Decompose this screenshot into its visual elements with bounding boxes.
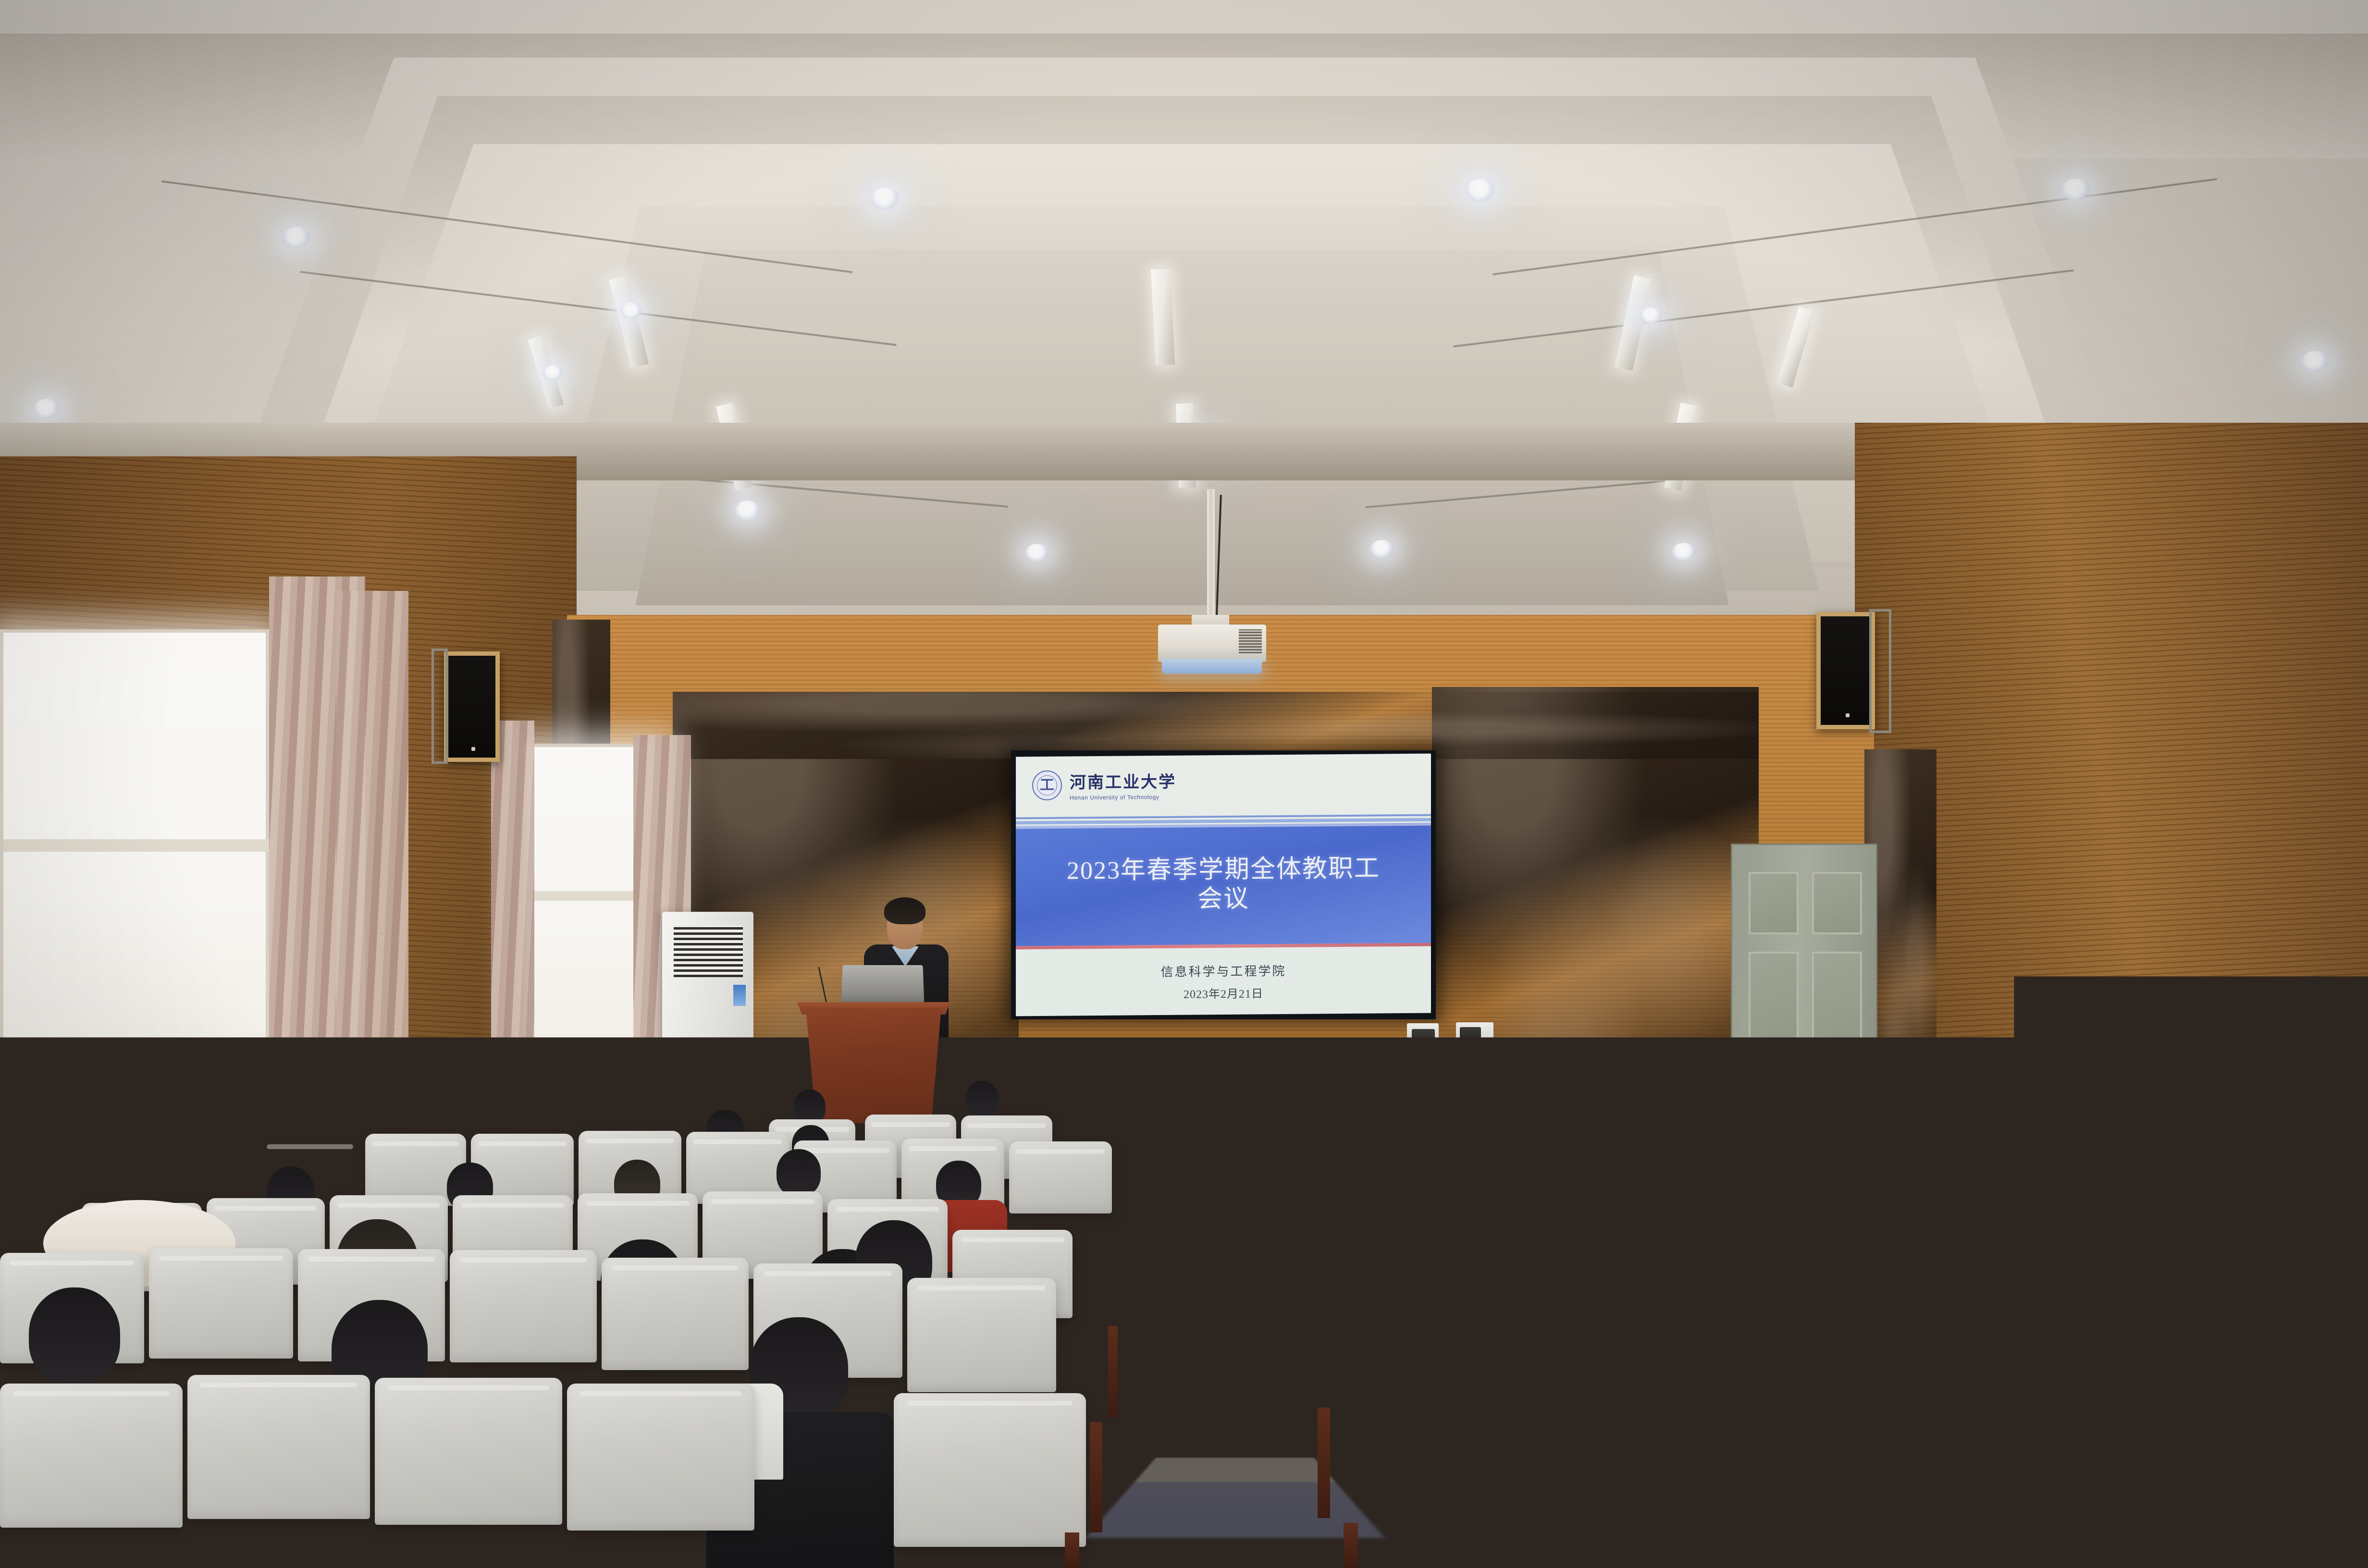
seat-leg — [1297, 1316, 1307, 1403]
seat — [0, 1384, 183, 1528]
door-panel-bottom-right — [1812, 952, 1862, 1062]
seat — [1418, 1393, 1610, 1568]
seat — [1795, 1260, 1944, 1373]
ceiling-downlight — [2061, 179, 2090, 201]
air-conditioner-vent-icon — [674, 925, 743, 977]
presenter-laptop — [841, 965, 924, 1006]
speaker-led-icon — [1846, 713, 1850, 717]
ceiling-downlight — [1466, 179, 1495, 202]
slide-footer-department: 信息科学与工程学院 — [1160, 961, 1286, 980]
projector-vent-grille-icon — [1239, 629, 1262, 653]
seat — [1739, 1080, 1837, 1148]
slide-header: 工 河南工业大学 Henan University of Technology — [1016, 754, 1431, 815]
presentation-slide: 工 河南工业大学 Henan University of Technology … — [1016, 754, 1431, 1017]
seat — [1494, 1265, 1639, 1376]
seat-leg — [1065, 1532, 1079, 1568]
seat — [1317, 1172, 1432, 1256]
slide-footer: 信息科学与工程学院 2023年2月21日 — [1016, 946, 1431, 1017]
seat — [187, 1375, 370, 1519]
ceiling-downlight — [1640, 307, 1662, 324]
projector-lens — [1162, 659, 1262, 674]
seat — [567, 1384, 754, 1531]
attendee-head — [29, 1287, 120, 1384]
seat — [2306, 1167, 2368, 1257]
seat — [1949, 1257, 2098, 1371]
university-name-en: Henan University of Technology — [1070, 794, 1176, 801]
seat — [1643, 1262, 1790, 1375]
university-seal-glyph: 工 — [1040, 778, 1054, 793]
speaker-bracket-right — [1869, 609, 1891, 733]
university-name-block: 河南工业大学 Henan University of Technology — [1070, 769, 1176, 801]
wall-speaker-left — [444, 651, 500, 762]
curtain-left-of-window — [491, 721, 534, 1115]
ceiling-downlight — [621, 303, 642, 319]
seat — [1432, 1087, 1528, 1154]
university-name-cn: 河南工业大学 — [1070, 769, 1176, 793]
lecture-hall-photo: 工 河南工业大学 Henan University of Technology … — [0, 0, 2368, 1568]
wall-speaker-right — [1816, 612, 1875, 729]
speaker-bracket-left — [432, 649, 448, 764]
ceiling-downlight — [1370, 540, 1394, 557]
projection-screen: 工 河南工业大学 Henan University of Technology … — [1011, 750, 1436, 1019]
projector-mount-pole — [1207, 489, 1215, 624]
seat — [2180, 1170, 2303, 1260]
curtain-left-2 — [336, 591, 408, 1119]
desk-av-device-2-screen — [1460, 1027, 1481, 1040]
presenter-hair — [884, 897, 925, 924]
seat — [2153, 1072, 2254, 1142]
ceiling-downlight — [2302, 351, 2329, 372]
waste-bin — [513, 1066, 555, 1112]
window-mullion — [3, 839, 272, 852]
plant-pot — [208, 1085, 258, 1126]
speaker-led-icon — [471, 747, 475, 751]
seat — [2258, 1252, 2368, 1367]
seat — [1812, 1384, 2009, 1568]
ceiling-downlight — [735, 501, 760, 520]
ceiling-downlight — [543, 365, 563, 380]
ceiling-downlight — [1672, 543, 1695, 560]
seat — [602, 1258, 749, 1370]
seat — [1944, 1078, 2042, 1146]
air-conditioner-label — [733, 985, 746, 1006]
seat — [2013, 1379, 2210, 1568]
seat — [1009, 1141, 1112, 1213]
seat-aisle-side — [1326, 1292, 1418, 1379]
seat — [1841, 1080, 1939, 1148]
university-seal-icon: 工 — [1032, 771, 1062, 800]
ceiling-downlight — [1025, 544, 1048, 561]
seat-aisle-side — [1024, 1297, 1115, 1384]
seat — [1929, 1177, 2049, 1264]
slide-title-line-2: 会议 — [1197, 885, 1249, 913]
door-handle-icon[interactable] — [1743, 1066, 1780, 1072]
door-panel-top-right — [1812, 872, 1862, 934]
seat — [149, 1248, 293, 1359]
slide-title-line-1: 2023年春季学期全体教职工 — [1067, 855, 1380, 884]
slide-footer-date: 2023年2月21日 — [1184, 984, 1263, 1001]
ceiling-downlight — [283, 227, 310, 248]
seat — [1437, 1166, 1552, 1250]
seat — [2103, 1254, 2255, 1369]
seat-leg — [1318, 1408, 1330, 1518]
seat — [1636, 1082, 1734, 1150]
desk-av-device-1-screen — [1412, 1029, 1435, 1048]
door-panel-top-left — [1749, 872, 1799, 934]
attendee-head — [777, 1149, 821, 1196]
seat — [2258, 1070, 2359, 1140]
seat — [375, 1378, 562, 1525]
slide-title-band: 2023年春季学期全体教职工 会议 — [1016, 823, 1431, 946]
ceiling-downlight — [871, 187, 900, 209]
attendee-head — [966, 1081, 999, 1116]
seat-aisle-side — [990, 1393, 1091, 1494]
slide-title: 2023年春季学期全体教职工 会议 — [1067, 854, 1380, 915]
seat — [1615, 1388, 1807, 1568]
seat-leg — [1090, 1422, 1102, 1532]
marble-frieze-top — [673, 692, 1759, 759]
seat-leg — [1344, 1523, 1358, 1568]
door-panel-bottom-left — [1749, 952, 1799, 1062]
ceiling-downlight — [34, 399, 60, 419]
seat — [450, 1250, 597, 1362]
